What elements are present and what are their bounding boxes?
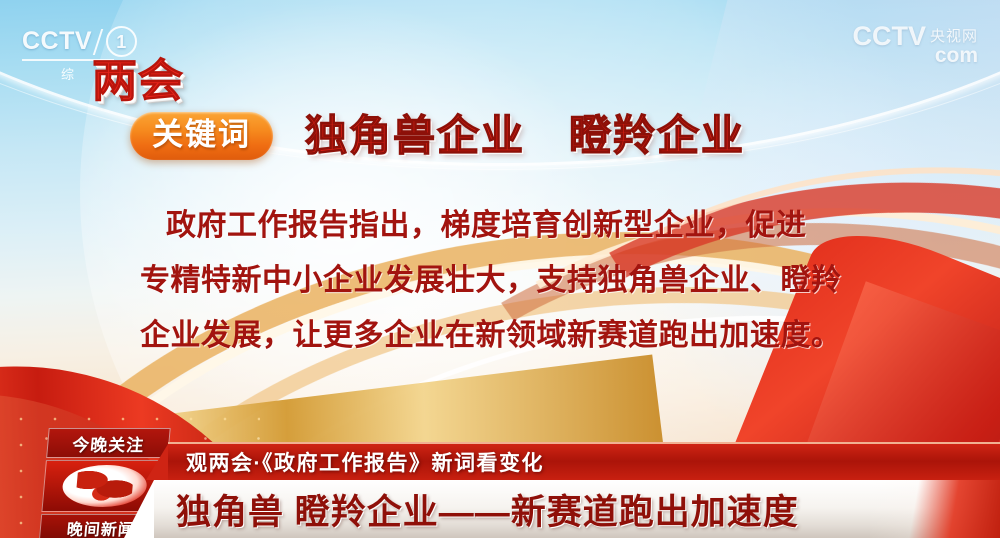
channel-logo-slash-icon: [93, 29, 103, 55]
page-title: 独角兽企业 瞪羚企业: [305, 112, 745, 160]
body-paragraph: 政府工作报告指出，梯度培育创新型企业，促进 专精特新中小企业发展壮大，支持独角兽…: [140, 198, 880, 363]
keyword-badge: 关键词: [130, 112, 273, 160]
sub-headline-bar: 观两会·《政府工作报告》新词看变化: [168, 442, 1000, 480]
lower-third: 今晚关注 晚间新闻 观两会·《政府工作报告》新词看变化 独角兽 瞪羚企业——新赛…: [0, 428, 1000, 538]
channel-number: 1: [106, 26, 137, 57]
event-label: 两会: [92, 58, 184, 103]
body-line-3: 企业发展，让更多企业在新领域新赛道跑出加速度。: [140, 308, 880, 363]
watermark-brand: CCTV: [852, 24, 926, 50]
body-line-1: 政府工作报告指出，梯度培育创新型企业，促进: [140, 198, 880, 253]
main-title-bar: 独角兽 瞪羚企业——新赛道跑出加速度: [154, 480, 1000, 538]
broadcast-frame: CCTV 1 综 CCTV 央视网 com 两会 关键词 独角兽企业 瞪羚企业 …: [0, 0, 1000, 538]
body-line-2: 专精特新中小企业发展壮大，支持独角兽企业、瞪羚: [140, 253, 880, 308]
channel-logo-mark: CCTV 1: [22, 26, 137, 57]
channel-logo-text: CCTV: [22, 29, 92, 54]
cctv-com-watermark: CCTV 央视网 com: [852, 24, 978, 68]
main-title-text: 独角兽 瞪羚企业——新赛道跑出加速度: [154, 484, 799, 535]
sub-headline-text: 观两会·《政府工作报告》新词看变化: [168, 447, 544, 477]
